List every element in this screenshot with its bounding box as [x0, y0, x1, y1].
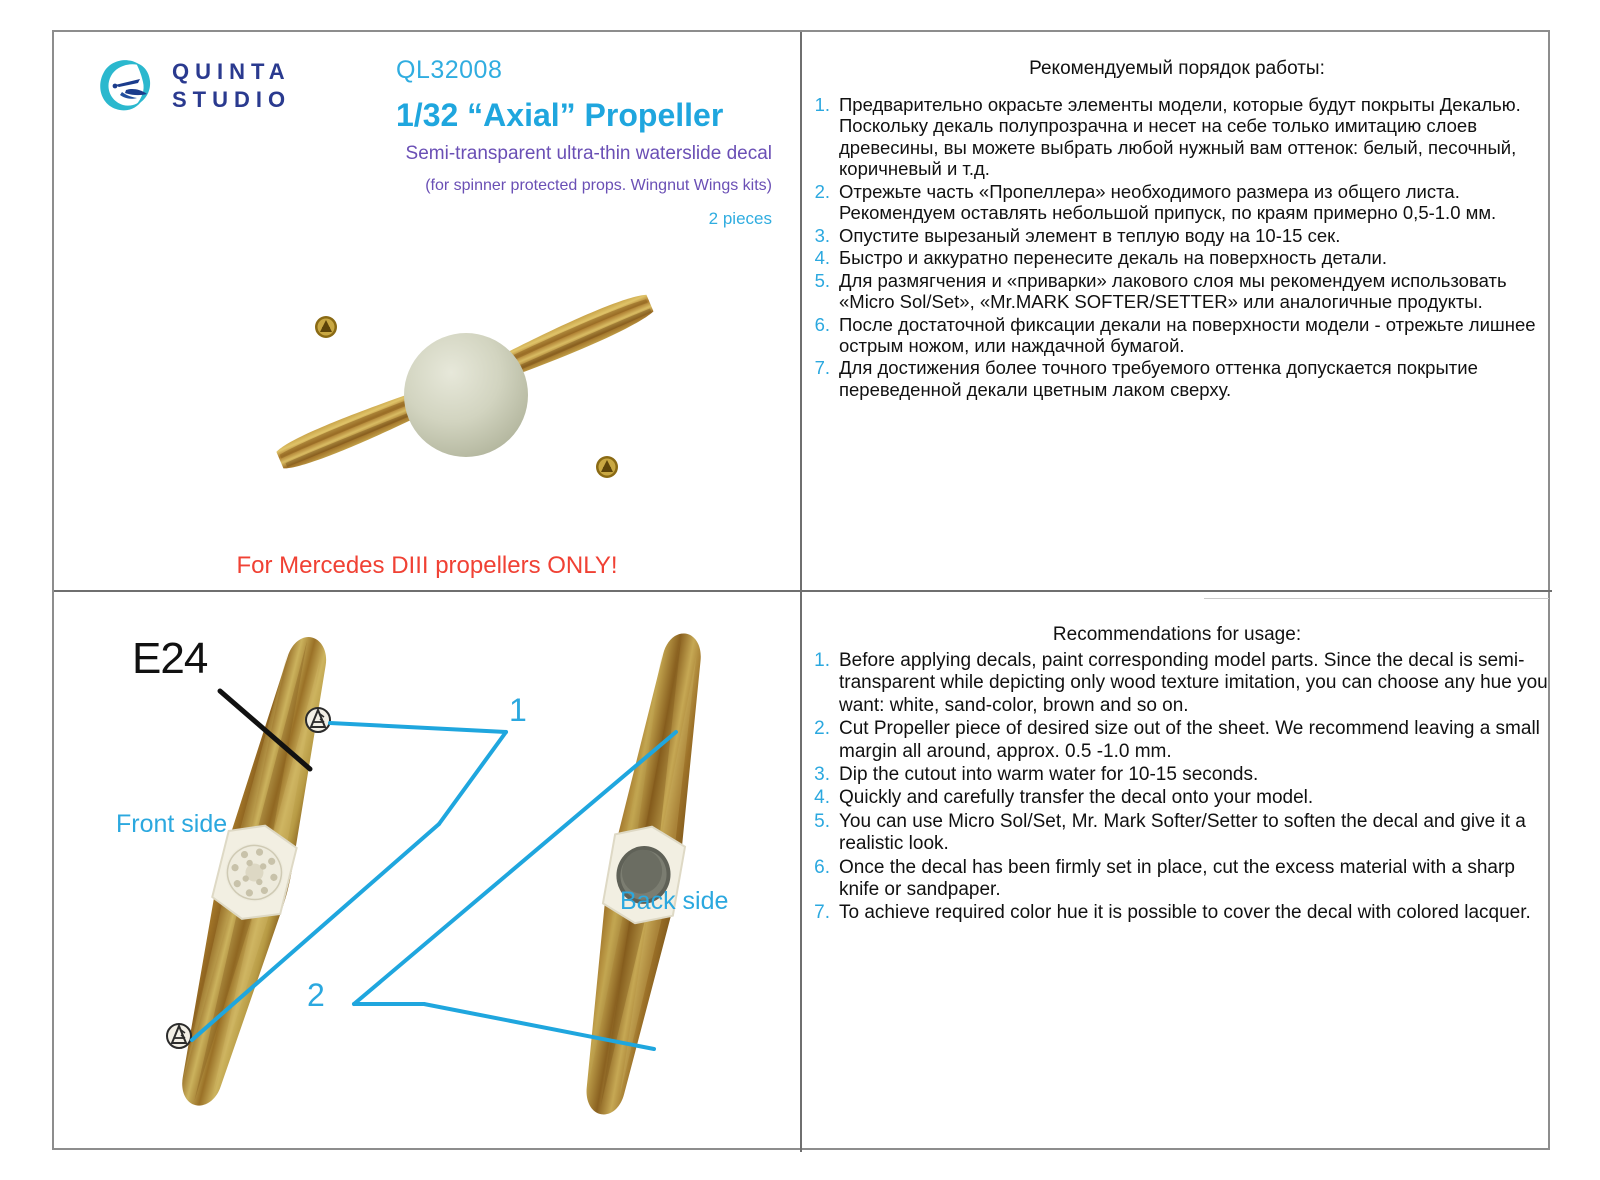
brand-line-1: QUINTA — [172, 61, 291, 83]
product-subtitle: Semi-transparent ultra-thin waterslide d… — [384, 143, 772, 165]
instruction-text: Быстро и аккуратно перенесите декаль на … — [839, 247, 1552, 268]
instructions-en-panel: Recommendations for usage: 1.Before appl… — [802, 592, 1552, 1152]
instruction-item: 5.You can use Micro Sol/Set, Mr. Mark So… — [802, 811, 1552, 856]
instruction-number: 7. — [802, 357, 839, 378]
instruction-text: Before applying decals, paint correspond… — [839, 650, 1552, 717]
instruction-number: 1. — [802, 94, 839, 115]
instruction-text: Quickly and carefully transfer the decal… — [839, 787, 1552, 809]
instruction-item: 3.Dip the cutout into warm water for 10-… — [802, 764, 1552, 786]
instructions-ru-list: 1.Предварительно окрасьте элементы модел… — [802, 94, 1552, 400]
instructions-en-list: 1.Before applying decals, paint correspo… — [802, 650, 1552, 925]
instruction-text: Предварительно окрасьте элементы модели,… — [839, 94, 1552, 180]
instruction-item: 1.Предварительно окрасьте элементы модел… — [802, 94, 1552, 180]
instruction-number: 1. — [802, 650, 839, 672]
instruction-item: 7.To achieve required color hue it is po… — [802, 902, 1552, 924]
propeller-with-spinner-photo — [204, 247, 724, 517]
instruction-sheet: QUINTA STUDIO QL32008 1/32 “Axial” Prope… — [52, 30, 1550, 1150]
instruction-text: Для размягчения и «приварки» лакового сл… — [839, 270, 1552, 313]
part-number-label: E24 — [132, 634, 207, 684]
instruction-number: 2. — [802, 718, 839, 740]
instruction-text: Cut Propeller piece of desired size out … — [839, 718, 1552, 763]
instruction-item: 4.Быстро и аккуратно перенесите декаль н… — [802, 247, 1552, 268]
product-note: (for spinner protected props. Wingnut Wi… — [384, 177, 772, 195]
callout-label-1: 1 — [509, 692, 527, 729]
product-info: QL32008 1/32 “Axial” Propeller Semi-tran… — [384, 56, 772, 229]
instruction-number: 4. — [802, 787, 839, 809]
instruction-item: 6.После достаточной фиксации декали на п… — [802, 314, 1552, 357]
instruction-item: 4.Quickly and carefully transfer the dec… — [802, 787, 1552, 809]
instruction-number: 5. — [802, 811, 839, 833]
product-title: 1/32 “Axial” Propeller — [396, 97, 772, 134]
instruction-text: Отрежьте часть «Пропеллера» необходимого… — [839, 181, 1552, 224]
blade-stamp-upper — [315, 316, 337, 338]
instructions-en-heading: Recommendations for usage: — [802, 624, 1552, 646]
front-stamp-lower — [167, 1024, 191, 1048]
part-number-leader — [214, 687, 324, 777]
instructions-ru-heading: Рекомендуемый порядок работы: — [802, 58, 1552, 80]
instruction-item: 2.Отрежьте часть «Пропеллера» необходимо… — [802, 181, 1552, 224]
blade-stamp-lower — [596, 456, 618, 478]
back-side-label: Back side — [620, 887, 728, 916]
instruction-item: 1.Before applying decals, paint correspo… — [802, 650, 1552, 717]
instruction-item: 3.Опустите вырезаный элемент в теплую во… — [802, 225, 1552, 246]
instruction-number: 6. — [802, 857, 839, 879]
instruction-item: 7.Для достижения более точного требуемог… — [802, 357, 1552, 400]
quinta-swirl-icon — [92, 52, 160, 120]
instruction-number: 6. — [802, 314, 839, 335]
instruction-text: Dip the cutout into warm water for 10-15… — [839, 764, 1552, 786]
instruction-text: Once the decal has been firmly set in pl… — [839, 857, 1552, 902]
instruction-number: 2. — [802, 181, 839, 202]
brand-line-2: STUDIO — [172, 89, 291, 111]
instruction-text: Для достижения более точного требуемого … — [839, 357, 1552, 400]
product-panel: QUINTA STUDIO QL32008 1/32 “Axial” Prope… — [54, 32, 800, 590]
instruction-number: 3. — [802, 764, 839, 786]
instruction-number: 5. — [802, 270, 839, 291]
instructions-ru-panel: Рекомендуемый порядок работы: 1.Предвари… — [802, 32, 1552, 590]
instruction-text: После достаточной фиксации декали на пов… — [839, 314, 1552, 357]
instruction-number: 4. — [802, 247, 839, 268]
callout-label-2: 2 — [307, 977, 325, 1014]
brand-wordmark: QUINTA STUDIO — [172, 61, 291, 111]
instruction-number: 3. — [802, 225, 839, 246]
decal-diagram-panel: E24 Front side Back side 1 2 — [54, 592, 800, 1152]
product-pieces: 2 pieces — [384, 209, 772, 229]
brand-logo: QUINTA STUDIO — [92, 52, 291, 120]
instruction-text: Опустите вырезаный элемент в теплую воду… — [839, 225, 1552, 246]
front-side-label: Front side — [116, 810, 227, 839]
instruction-text: You can use Micro Sol/Set, Mr. Mark Soft… — [839, 811, 1552, 856]
product-code: QL32008 — [396, 56, 772, 85]
instruction-item: 2.Cut Propeller piece of desired size ou… — [802, 718, 1552, 763]
instruction-number: 7. — [802, 902, 839, 924]
instruction-item: 5.Для размягчения и «приварки» лакового … — [802, 270, 1552, 313]
instruction-text: To achieve required color hue it is poss… — [839, 902, 1552, 924]
instruction-item: 6.Once the decal has been firmly set in … — [802, 857, 1552, 902]
compatibility-warning: For Mercedes DIII propellers ONLY! — [54, 552, 800, 580]
